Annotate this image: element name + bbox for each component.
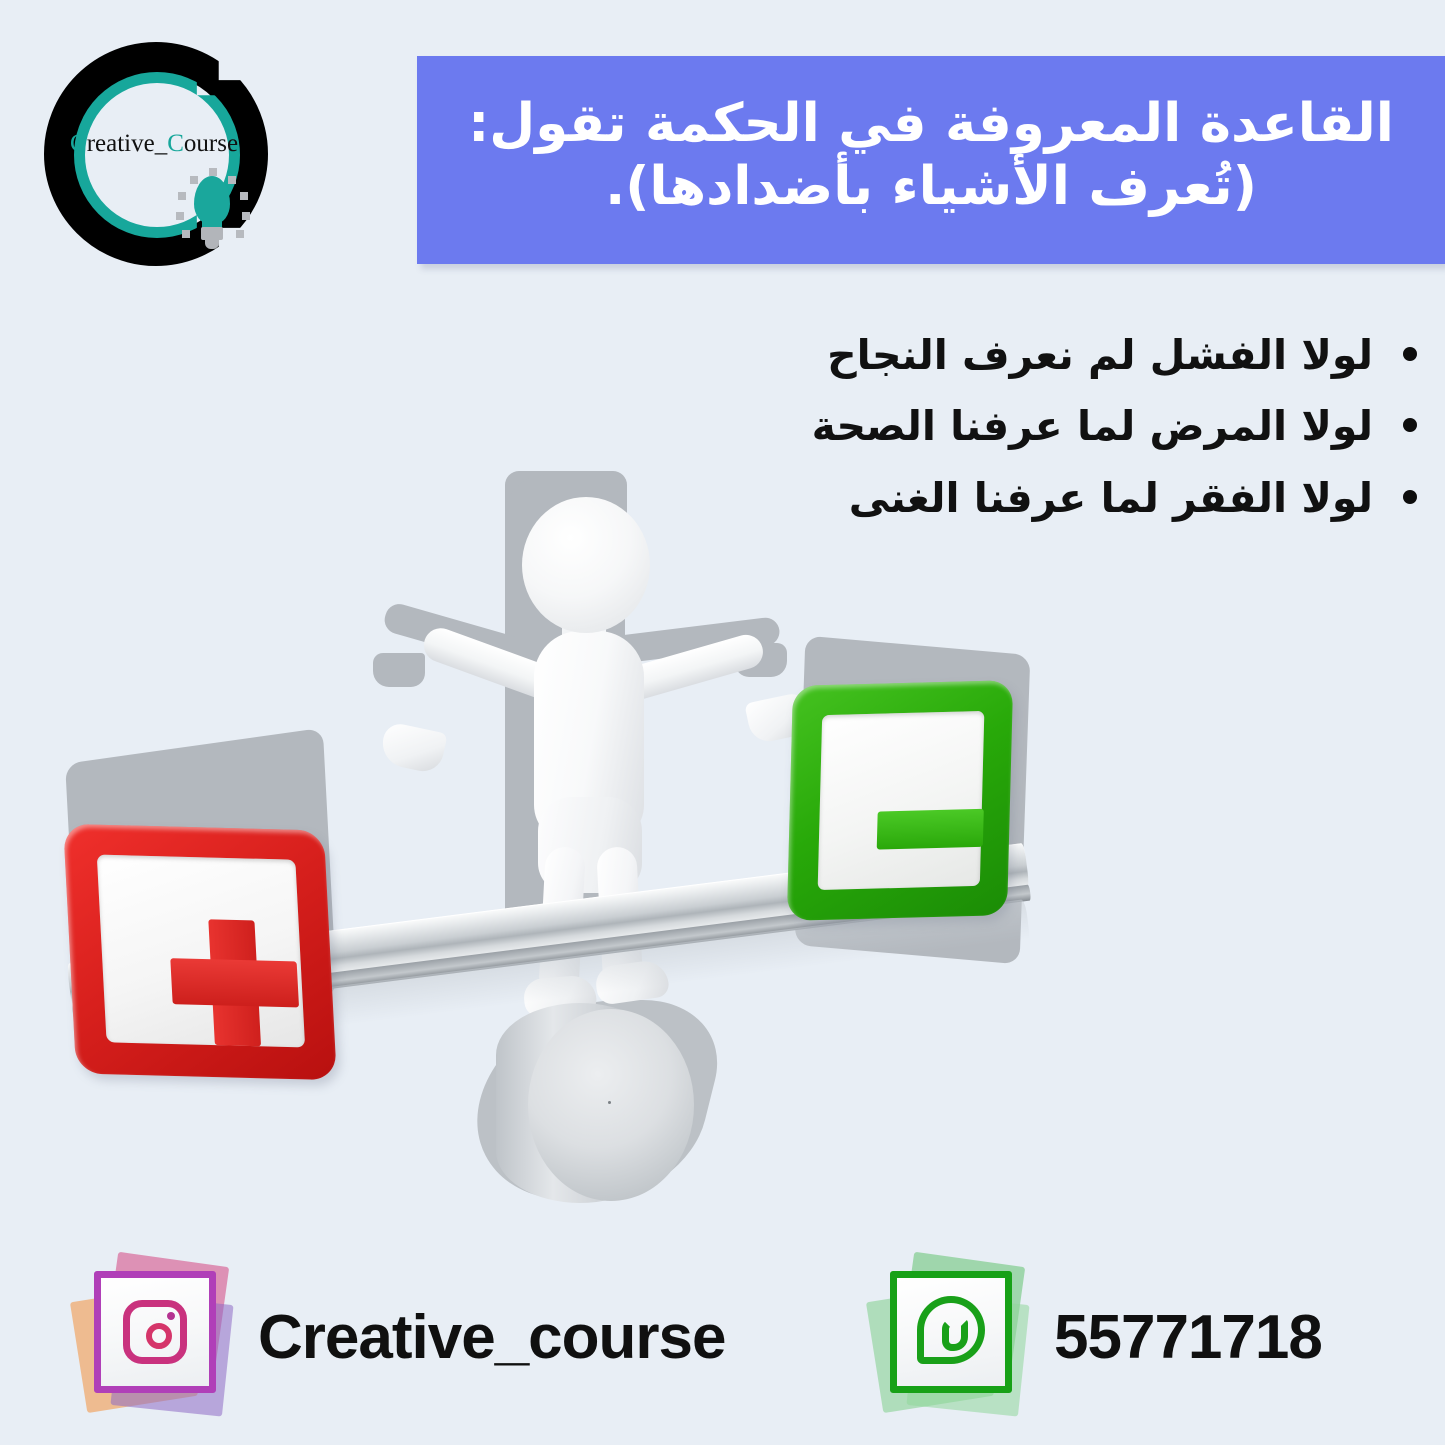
headline-line-1: القاعدة المعروفة في الحكمة تقول:	[468, 93, 1394, 156]
seesaw-balance-illustration	[0, 455, 1100, 1245]
creative-course-logo: Creative_Course	[36, 34, 278, 272]
instagram-card-front	[94, 1271, 216, 1393]
bulb-ray	[178, 192, 186, 200]
poster-canvas: Creative_Course القاعدة المعروفة في الحك…	[0, 0, 1445, 1445]
whatsapp-bubble-outline	[917, 1296, 985, 1364]
whatsapp-handset	[942, 1319, 968, 1351]
bulb-ray	[190, 176, 198, 184]
logo-brand-c2: C	[167, 130, 184, 157]
bullet-text: لولا المرض لما عرفنا الصحة	[812, 401, 1373, 452]
bullet-dot-icon	[1403, 347, 1417, 361]
instagram-camera-outline	[123, 1300, 187, 1364]
whatsapp-icon[interactable]	[872, 1257, 1032, 1417]
logo-brand-c1: C	[70, 130, 87, 157]
headline-line-2: (تُعرف الأشياء بأضدادها).	[605, 156, 1257, 219]
bulb-base-tip	[205, 239, 219, 249]
minus-sign-block	[787, 680, 1013, 921]
headline-banner: القاعدة المعروفة في الحكمة تقول: (تُعرف …	[417, 56, 1445, 264]
whatsapp-contact[interactable]: 55771718	[872, 1257, 1322, 1417]
bulb-ray	[240, 192, 248, 200]
logo-brand-part4: ourse	[184, 130, 238, 157]
figure-head	[522, 497, 650, 633]
instagram-handle[interactable]: Creative_course	[258, 1302, 726, 1373]
instagram-icon[interactable]	[76, 1257, 236, 1417]
minus-icon-bar	[877, 809, 984, 850]
plus-sign-block	[63, 824, 337, 1080]
instagram-flash-dot	[167, 1312, 175, 1320]
whatsapp-card-front	[890, 1271, 1012, 1393]
bullet-dot-icon	[1403, 418, 1417, 432]
bulb-ray	[228, 176, 236, 184]
bullet-text: لولا الفشل لم نعرف النجاح	[827, 330, 1373, 381]
grey-cylinder-fulcrum	[496, 1003, 696, 1213]
bullet-dot-icon	[1403, 490, 1417, 504]
plus-icon-horizontal	[170, 958, 299, 1007]
list-item: لولا الفشل لم نعرف النجاح	[657, 330, 1417, 381]
social-footer: Creative_course 55771718	[0, 1249, 1445, 1429]
bulb-ray	[242, 212, 250, 220]
instagram-contact[interactable]: Creative_course	[76, 1257, 726, 1417]
whatsapp-number[interactable]: 55771718	[1054, 1302, 1322, 1373]
bulb-ray	[176, 212, 184, 220]
minus-block-face	[818, 711, 985, 890]
bulb-ray	[209, 168, 217, 176]
list-item: لولا المرض لما عرفنا الصحة	[657, 401, 1417, 452]
figure-hand-left	[378, 721, 447, 775]
fulcrum-center-dot	[608, 1101, 611, 1104]
fulcrum-face	[528, 1009, 694, 1201]
lightbulb-icon	[176, 170, 248, 262]
logo-brand-text: Creative_Course	[70, 130, 290, 158]
bulb-ray	[182, 230, 190, 238]
plus-block-face	[97, 855, 305, 1048]
shadow-figure-hand-left	[373, 653, 425, 687]
bulb-ray	[236, 230, 244, 238]
logo-brand-part2: reative_	[87, 130, 168, 157]
instagram-lens	[146, 1323, 172, 1349]
